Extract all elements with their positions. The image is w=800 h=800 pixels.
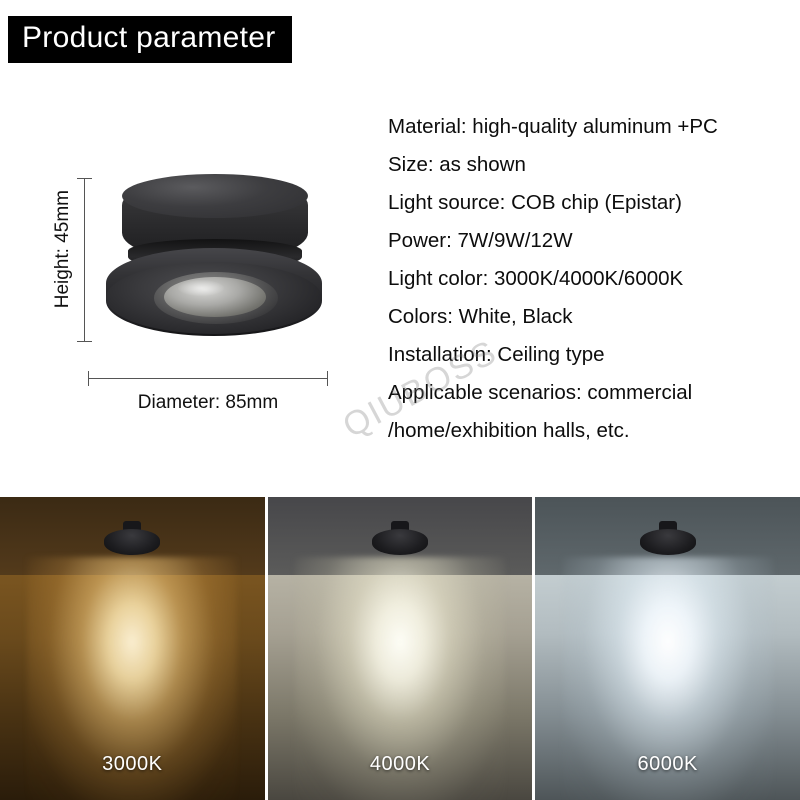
color-temp-panel-4000k: 4000K xyxy=(268,497,533,800)
spec-item-power: Power: 7W/9W/12W xyxy=(388,222,788,260)
color-temp-label: 4000K xyxy=(268,753,533,776)
diameter-dimension-cap-right xyxy=(327,371,328,386)
lamp-illustration xyxy=(102,176,326,341)
color-temperature-strip: 3000K 4000K 6000K xyxy=(0,497,800,800)
page-title: Product parameter xyxy=(8,16,292,63)
spec-item-colors: Colors: White, Black xyxy=(388,298,788,336)
fixture-head xyxy=(640,529,696,555)
lamp-top-face xyxy=(122,174,308,218)
height-dimension-label: Height: 45mm xyxy=(52,190,76,308)
height-dimension-cap-top xyxy=(77,178,92,179)
spec-item-size: Size: as shown xyxy=(388,146,788,184)
spec-item-scenarios: Applicable scenarios: commercial /home/e… xyxy=(388,374,788,450)
height-dimension-line xyxy=(84,178,85,342)
product-dimension-drawing: Height: 45mm Diameter: 85mm xyxy=(40,150,370,450)
diameter-dimension-label: Diameter: 85mm xyxy=(88,392,328,414)
spec-item-material: Material: high-quality aluminum +PC xyxy=(388,108,788,146)
spec-item-installation: Installation: Ceiling type xyxy=(388,336,788,374)
spec-item-light-color: Light color: 3000K/4000K/6000K xyxy=(388,260,788,298)
color-temp-panel-6000k: 6000K xyxy=(535,497,800,800)
lamp-lens-highlight xyxy=(178,280,224,296)
ceiling-lamp-fixture xyxy=(640,521,696,555)
diameter-dimension-cap-left xyxy=(88,371,89,386)
ceiling-lamp-fixture xyxy=(104,521,160,555)
color-temp-panel-3000k: 3000K xyxy=(0,497,265,800)
spec-list: Material: high-quality aluminum +PC Size… xyxy=(388,108,788,450)
diameter-dimension-line xyxy=(88,378,328,379)
color-temp-label: 6000K xyxy=(535,753,800,776)
height-dimension-cap-bottom xyxy=(77,341,92,342)
fixture-head xyxy=(372,529,428,555)
spec-item-light-source: Light source: COB chip (Epistar) xyxy=(388,184,788,222)
color-temp-label: 3000K xyxy=(0,753,265,776)
fixture-head xyxy=(104,529,160,555)
ceiling-lamp-fixture xyxy=(372,521,428,555)
